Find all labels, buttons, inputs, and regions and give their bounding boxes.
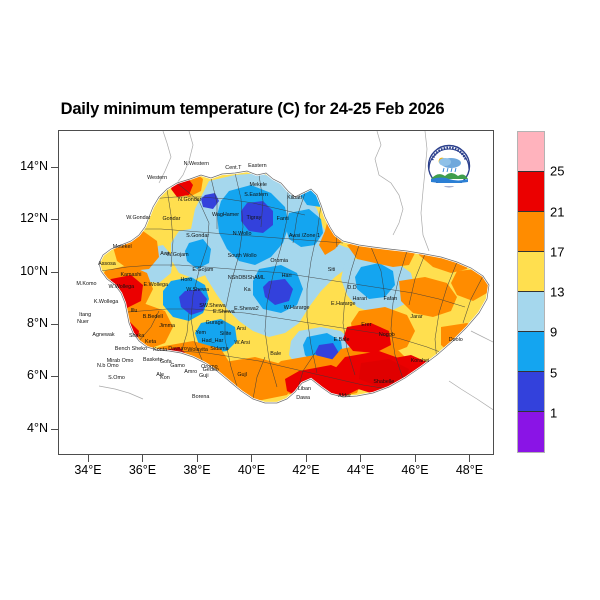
map-zone-label: Fafan [383,296,397,302]
map-zone-label: W.Hararge [284,305,310,311]
map-zone-label: Nuer [77,319,89,325]
map-zone-label: Doolo [449,337,463,343]
map-zone-label: S.Omo [108,375,125,381]
y-tick-mark [51,376,58,377]
map-zone-label: W.Gojam [166,252,188,258]
colorbar-tick-label: 25 [550,164,564,179]
colorbar-band-1-5[interactable] [518,372,544,412]
colorbar-tick-label: 1 [550,405,557,420]
x-tick-mark [306,455,307,462]
map-zone-label: Kon [160,375,170,381]
x-tick-mark [360,455,361,462]
map-zone-label: Yem [195,330,206,336]
map-zone-label: WagHamer [212,212,239,218]
y-tick-label: 14°N [0,159,48,173]
colorbar-tick-label: 9 [550,325,557,340]
x-tick-mark [469,455,470,462]
x-tick-label: 42°E [276,463,336,477]
map-zone-label: Dawuro [168,346,187,352]
map-zone-label: Shabelle [373,379,394,385]
map-zone-label: Had_Har [202,338,224,344]
map-zone-label: Korahei [411,358,430,364]
map-zone-label: Nogob [379,332,395,338]
map-zone-label: Borena [192,394,209,400]
map-zone-label: S.Gondar [186,233,209,239]
x-tick-mark [415,455,416,462]
x-tick-label: 46°E [385,463,445,477]
map-zone-label: Sidama [210,346,228,352]
colorbar-band-21-25[interactable] [518,172,544,212]
colorbar-tick-label: 21 [550,204,564,219]
y-tick-mark [51,167,58,168]
map-zone-label: W.Wollega [109,284,135,290]
colorbar-tick-label: 17 [550,244,564,259]
map-zone-label: Bench Sheko [115,346,147,352]
map-zone-label: Ka [244,287,251,293]
map-zone-label: N.Wollo [233,231,252,237]
map-zone-label: Liban [298,386,311,392]
colorbar[interactable] [517,131,545,453]
map-zone-label: Cent.T [225,165,241,171]
map-zone-label: Bale [270,351,281,357]
map-zone-label: Jarar [410,314,422,320]
colorbar-band-13-17[interactable] [518,252,544,292]
map-zone-label: E.Wollega [144,282,168,288]
y-tick-label: 10°N [0,264,48,278]
map-zone-label: Assosa [98,261,116,267]
map-zone-label: B.Bedell [143,314,163,320]
map-zone-label: Silite [220,331,232,337]
map-zone-label: W.Gondar [126,215,150,221]
y-tick-label: 4°N [0,421,48,435]
y-tick-label: 6°N [0,368,48,382]
map-zone-label: K.Wollega [94,299,118,305]
page-title: Daily minimum temperature (C) for 24-25 … [0,100,505,119]
map-zone-label: Konta [153,347,167,353]
map-zone-label: W.Shewa [186,287,209,293]
map-zone-label: NShDBIShAML [228,275,265,281]
map-zone-label: Kilbati [287,195,302,201]
map-zone-label: Metekel [113,244,132,250]
map-zone-label: Awsi /Zone 1 [289,233,320,239]
map-zone-label: Dawa [296,395,310,401]
map-zone-label: Arsi [237,326,246,332]
y-tick-label: 8°N [0,316,48,330]
x-tick-mark [88,455,89,462]
map-zone-label: Jimma [159,323,175,329]
map-zone-label: Wolayita [187,347,208,353]
map-zone-label: Illu [131,308,138,314]
map-zone-label: Gamo [170,363,185,369]
map-zone-label: E.Bale [334,337,350,343]
map-zone-label: Horo [180,277,192,283]
map-zone-label: M.Komo [76,281,96,287]
map-zone-label: N.Gondar [178,197,201,203]
map-zone-label: Sheka [129,333,144,339]
map-zone-label: Keta [145,339,156,345]
map-zone-label: E.Gojam [192,267,213,273]
map-zone-label: E.Shewa2 [234,306,259,312]
map-zone-label: South Wollo [228,253,257,259]
x-tick-mark [251,455,252,462]
y-tick-mark [51,219,58,220]
map-zone-label: SW.Shewa [199,303,225,309]
map-zone-label: E.Shewa [213,309,235,315]
map-zone-label: Gondar [162,216,180,222]
map-zone-label: Itang [79,312,91,318]
ethiopian-meteorological-institute-logo [418,143,480,191]
y-tick-label: 12°N [0,211,48,225]
map-zone-label: Kamashi [120,272,141,278]
y-tick-mark [51,272,58,273]
colorbar-band-below-1[interactable] [518,412,544,452]
x-tick-mark [197,455,198,462]
map-zone-label: E.Hararge [331,301,356,307]
colorbar-band-5-9[interactable] [518,332,544,372]
map-zone-label: Mekele [250,182,267,188]
map-zone-label: S.Eastern [244,192,268,198]
map-zone-label: Tigray [247,215,262,221]
map-zone-label: Guji [199,373,209,379]
colorbar-band-17-21[interactable] [518,212,544,252]
x-tick-label: 44°E [330,463,390,477]
colorbar-tick-label: 13 [550,285,564,300]
map-zone-label: Agnewak [92,332,114,338]
map-zone-label: Gujl [237,372,247,378]
x-tick-label: 40°E [221,463,281,477]
map-zone-label: Siti [328,267,336,273]
map-zone-label: D.D [347,285,356,291]
y-tick-mark [51,429,58,430]
map-zone-label: Erer [361,322,371,328]
x-tick-label: 38°E [167,463,227,477]
map-zone-label: Eastern [248,163,267,169]
map-zone-label: Western [147,175,167,181]
map-zone-label: Oromia [270,258,288,264]
figure-root: Daily minimum temperature (C) for 24-25 … [0,0,600,600]
map-zone-label: N.Western [184,161,209,167]
map-zone-label: Fanti [277,216,289,222]
x-tick-label: 36°E [112,463,172,477]
colorbar-band-above-25[interactable] [518,132,544,172]
x-tick-mark [142,455,143,462]
map-zone-label: Afder [338,393,351,399]
colorbar-tick-label: 5 [550,365,557,380]
map-zone-label: N.b Omo [97,363,119,369]
map-zone-label: Hari [282,273,292,279]
colorbar-band-9-13[interactable] [518,292,544,332]
x-tick-label: 48°E [439,463,499,477]
map-zone-label: Gurage [206,320,224,326]
map-zone-label: W.Arsi [234,340,250,346]
y-tick-mark [51,324,58,325]
map-zone-label: Amro [184,369,197,375]
x-tick-label: 34°E [58,463,118,477]
